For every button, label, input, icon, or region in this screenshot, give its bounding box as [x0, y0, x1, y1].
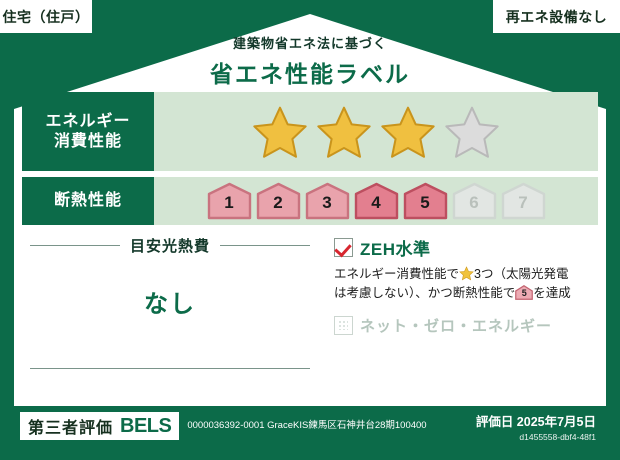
footer-hash: d1455558-dbf4-48f1 [476, 432, 596, 442]
row-energy-label: エネルギー 消費性能 [22, 92, 154, 171]
zeh-checkbox-checked-icon [334, 238, 353, 257]
zeh-desc-part3: を達成 [533, 286, 571, 300]
zeh-desc-star-count: 3つ（太陽光発電 [474, 267, 568, 281]
row-energy-value [154, 92, 598, 171]
label-footer: 第三者評価 BELS 0000036392-0001 GraceKIS練馬区石神… [14, 406, 606, 446]
label-body: エネルギー 消費性能 断熱性能 1234567 目安光熱費 [22, 92, 598, 404]
row-energy-label-line2: 消費性能 [54, 132, 122, 152]
grade-house-filled: 3 [305, 182, 350, 220]
star-empty-icon [444, 105, 500, 159]
star-filled-icon [380, 105, 436, 159]
grade-house-empty: 6 [452, 182, 497, 220]
rule-right [220, 245, 310, 246]
grade-house-filled: 5 [403, 182, 448, 220]
footer-building-id: 0000036392-0001 GraceKIS練馬区石神井台28期100400 [187, 420, 475, 433]
net-zero-energy-row: ネット・ゼロ・エネルギー [334, 315, 598, 336]
footer-evaluation-date: 評価日 2025年7月5日 d1455558-dbf4-48f1 [476, 411, 600, 442]
bels-badge: 第三者評価 BELS [20, 412, 179, 440]
grade-number: 1 [207, 194, 252, 211]
row-insulation-performance: 断熱性能 1234567 [22, 177, 598, 225]
star-icon [459, 266, 474, 281]
net-zero-energy-label: ネット・ゼロ・エネルギー [360, 315, 552, 336]
house-grade-value: 5 [515, 289, 533, 298]
grade-house-filled: 2 [256, 182, 301, 220]
grade-house-filled: 4 [354, 182, 399, 220]
row-insulation-label-text: 断熱性能 [54, 191, 122, 211]
utility-cost-block: 目安光熱費 なし [22, 235, 318, 383]
row-insulation-value: 1234567 [154, 177, 598, 225]
zeh-desc-part2: は考慮しない）、かつ断熱性能で [334, 286, 515, 300]
zeh-standard-row: ZEH水準 [334, 235, 598, 260]
zeh-description: エネルギー消費性能で3つ（太陽光発電は考慮しない）、かつ断熱性能で5を達成 [334, 265, 598, 304]
lower-section: 目安光熱費 なし ZEH水準 エネルギー消費性能で3つ（太陽光発電は考慮しない）… [22, 235, 598, 383]
tag-renewable-energy: 再エネ設備なし [493, 0, 620, 33]
bels-badge-jp: 第三者評価 [28, 414, 113, 438]
tag-building-type: 住宅（住戸） [0, 0, 92, 33]
utility-cost-bottom-rule [30, 368, 310, 369]
star-filled-icon [252, 105, 308, 159]
bels-badge-en: BELS [120, 415, 171, 438]
grade-number: 7 [501, 194, 546, 211]
grade-number: 3 [305, 194, 350, 211]
utility-cost-value: なし [22, 284, 318, 319]
zeh-block: ZEH水準 エネルギー消費性能で3つ（太陽光発電は考慮しない）、かつ断熱性能で5… [318, 235, 598, 383]
bels-energy-label: 住宅（住戸） 再エネ設備なし 建築物省エネ法に基づく 省エネ性能ラベル エネルギ… [0, 0, 620, 460]
grade-number: 2 [256, 194, 301, 211]
tag-building-type-label: 住宅（住戸） [3, 7, 90, 27]
grade-house-filled: 1 [207, 182, 252, 220]
star-rating [252, 105, 500, 159]
title-main: 省エネ性能ラベル [0, 55, 620, 89]
tag-renewable-energy-label: 再エネ設備なし [506, 7, 608, 27]
grade-number: 5 [403, 194, 448, 211]
rule-left [30, 245, 120, 246]
footer-date-text: 評価日 2025年7月5日 [476, 411, 596, 430]
page-title: 建築物省エネ法に基づく 省エネ性能ラベル [0, 33, 620, 89]
net-zero-checkbox-empty-icon [334, 316, 353, 335]
row-energy-label-line1: エネルギー [45, 112, 130, 132]
grade-number: 6 [452, 194, 497, 211]
zeh-desc-part1: エネルギー消費性能で [334, 267, 459, 281]
row-insulation-label: 断熱性能 [22, 177, 154, 225]
star-filled-icon [316, 105, 372, 159]
utility-cost-heading-text: 目安光熱費 [130, 235, 210, 256]
house-grade-icon: 5 [515, 285, 533, 300]
utility-cost-heading: 目安光熱費 [22, 235, 318, 256]
grade-house-empty: 7 [501, 182, 546, 220]
zeh-standard-label: ZEH水準 [360, 235, 431, 260]
row-energy-performance: エネルギー 消費性能 [22, 92, 598, 171]
title-subtitle: 建築物省エネ法に基づく [0, 33, 620, 52]
insulation-grade-scale: 1234567 [207, 182, 546, 220]
grade-number: 4 [354, 194, 399, 211]
